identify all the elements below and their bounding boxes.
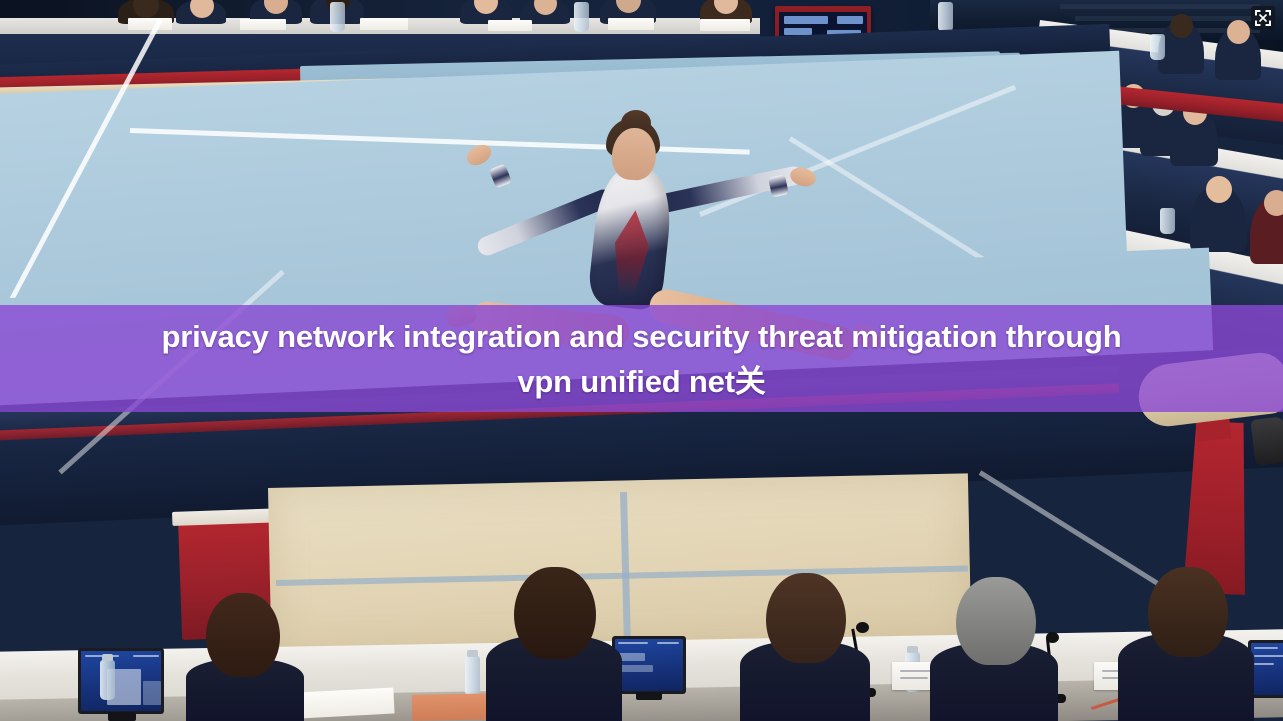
official-head: [1206, 176, 1232, 203]
water-bottle: [1150, 34, 1165, 60]
judge-monitor-screen: [615, 639, 683, 691]
document: [240, 19, 286, 30]
judge-monitor: [78, 648, 164, 714]
stand-step: [1060, 4, 1260, 9]
foreground-judge-head: [1148, 567, 1228, 657]
foreground-judge-head: [514, 567, 596, 659]
caption-line-2: vpn unified net关: [517, 359, 765, 404]
document: [360, 18, 408, 30]
water-bottle: [330, 2, 345, 32]
judge-monitor-screen: [81, 651, 161, 711]
judge-monitor: [612, 636, 686, 694]
vault-table-cap: [1250, 416, 1283, 466]
fullscreen-expand-icon[interactable]: [1251, 6, 1275, 30]
document: [700, 19, 750, 31]
judge-document: [297, 688, 394, 719]
official-head: [1170, 14, 1193, 38]
bottle-cap: [102, 654, 113, 661]
water-bottle: [465, 656, 480, 696]
monitor-stand: [636, 692, 662, 700]
foreground-judge-head: [766, 573, 846, 663]
official-head: [1264, 190, 1283, 216]
official-head: [1227, 20, 1250, 44]
water-bottle: [938, 2, 953, 32]
stand-step: [1075, 16, 1260, 21]
caption-banner: privacy network integration and security…: [0, 305, 1283, 412]
microphone-head: [1046, 632, 1059, 643]
foreground-judge-head: [956, 577, 1036, 665]
water-bottle: [100, 660, 115, 700]
water-bottle: [574, 2, 589, 32]
judge-monitor-screen: [1251, 643, 1283, 695]
bottle-cap: [907, 646, 918, 653]
bottle-cap: [467, 650, 478, 657]
document: [488, 20, 532, 31]
caption-line-1: privacy network integration and security…: [162, 314, 1122, 359]
document: [608, 18, 654, 30]
foreground-judge-head: [206, 593, 280, 677]
water-bottle: [1160, 208, 1175, 234]
image-viewer: privacy network integration and security…: [0, 0, 1283, 721]
document: [128, 18, 172, 30]
monitor-stand: [108, 712, 136, 721]
microphone-head: [856, 622, 869, 633]
